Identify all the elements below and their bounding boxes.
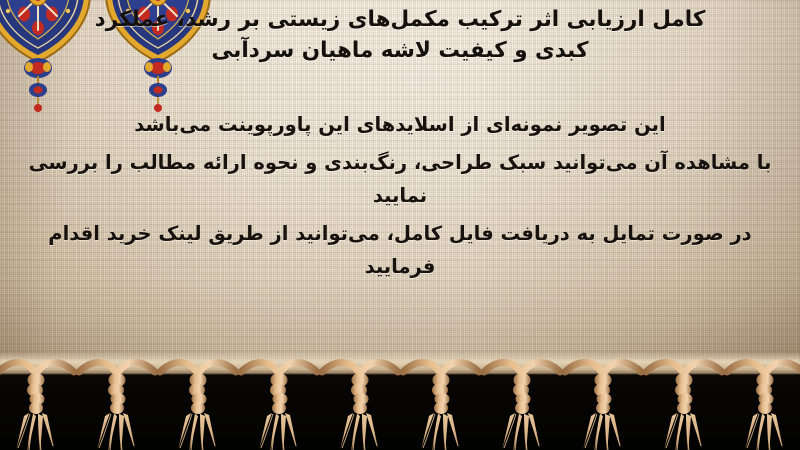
slide-title-line-2: کبدی و کیفیت لاشه ماهیان سردآبی bbox=[24, 35, 776, 66]
slide-body-line-2: با مشاهده آن می‌توانید سبک طراحی، رنگ‌بن… bbox=[20, 146, 780, 213]
slide-body-text: این تصویر نمونه‌ای از اسلایدهای این پاور… bbox=[20, 108, 780, 288]
slide-body-line-1: این تصویر نمونه‌ای از اسلایدهای این پاور… bbox=[20, 108, 780, 142]
slide-canvas: کامل ارزیابی اثر ترکیب مکمل‌های زیستی بر… bbox=[0, 0, 800, 450]
slide-body-line-3: در صورت تمایل به دریافت فایل کامل، می‌تو… bbox=[20, 217, 780, 284]
bottom-black-band bbox=[0, 368, 800, 450]
slide-title: کامل ارزیابی اثر ترکیب مکمل‌های زیستی بر… bbox=[24, 4, 776, 67]
slide-title-line-1: کامل ارزیابی اثر ترکیب مکمل‌های زیستی بر… bbox=[95, 7, 706, 32]
carpet-bottom-edge bbox=[0, 352, 800, 374]
